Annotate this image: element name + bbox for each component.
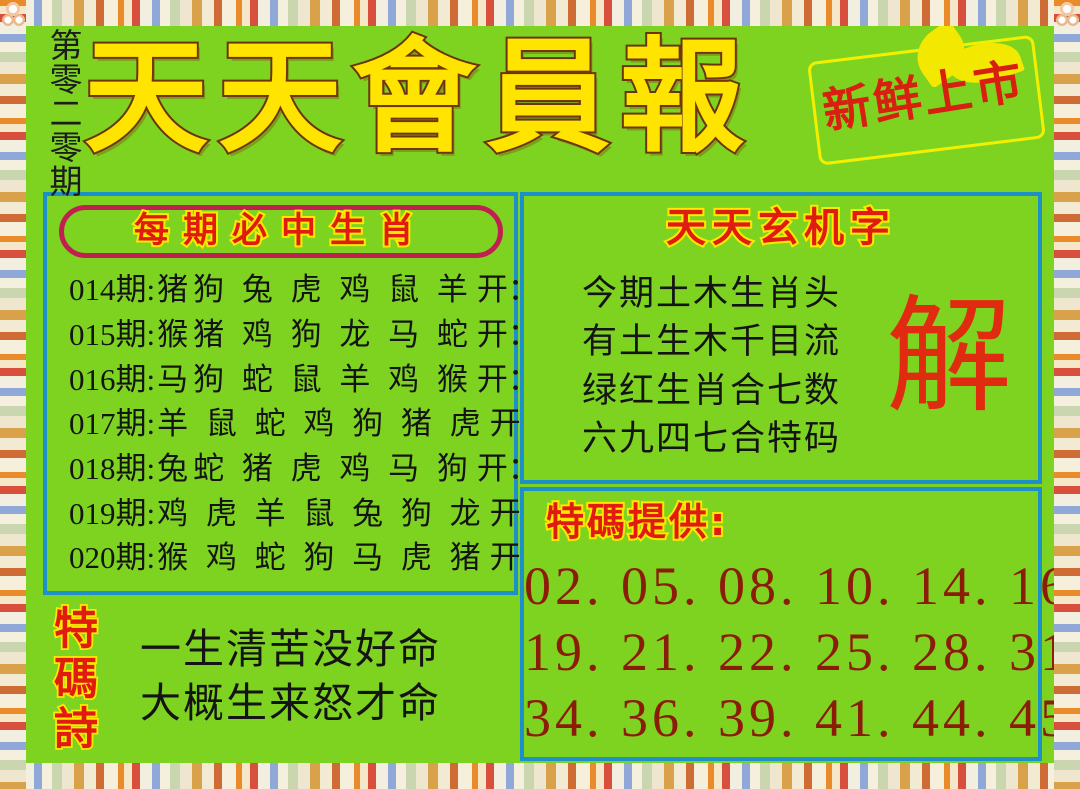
row-issue: 019期 [69,498,147,530]
masthead: 天天會員報 [84,18,804,178]
numbers-row: 19. 21. 22. 25. 28. 31 [524,625,1038,679]
row-animals: 鸡 虎 羊 鼠 兔 狗 龙 [157,498,486,530]
daily-riddle-panel: 天天玄机字 今期土木生肖头 有土生木千目流 绿红生肖合七数 六九四七合特码 解 [520,192,1042,484]
fresh-on-market-badge: 新鲜上市 [805,16,1051,175]
issue-number: 第零二零期 [30,28,78,198]
row-issue: 014期 [69,274,147,306]
zodiac-panel-header: 每期必中生肖 [59,205,503,258]
row-issue: 018期 [69,453,147,485]
row-separator: : [147,364,156,396]
page-title: 天天會員報 [84,36,754,160]
row-animals: 猴 鸡 蛇 狗 马 虎 猪 [157,542,486,574]
row-separator: : [147,408,156,440]
riddle-line: 绿红生肖合七数 [582,367,882,415]
row-separator: : [147,498,156,530]
table-row: 017期 : 羊 鼠 蛇 鸡 狗 猪 虎 开： [47,408,514,440]
table-row: 015期 : 猴猪 鸡 狗 龙 马 蛇 开： [47,319,514,351]
riddle-line: 有土生木千目流 [582,318,882,366]
special-numbers-panel: 特碼提供: 02. 05. 08. 10. 14. 16 19. 21. 22.… [520,487,1042,761]
table-row: 019期 : 鸡 虎 羊 鼠 兔 狗 龙 开： [47,498,514,530]
row-issue: 016期 [69,364,147,396]
numbers-row: 34. 36. 39. 41. 44. 45 [524,691,1038,745]
zodiac-header-label: 每期必中生肖 [134,214,428,249]
row-animals: 羊 鼠 蛇 鸡 狗 猪 虎 [157,408,486,440]
poem-line-list: 一生清苦没好命 大概生来怒才命 [140,622,500,730]
poem-line: 一生清苦没好命 [140,622,500,676]
zodiac-row-list: 014期 : 猪狗 兔 虎 鸡 鼠 羊 开： 015期 : 猴猪 鸡 狗 龙 马… [47,266,514,587]
table-row: 016期 : 马狗 蛇 鼠 羊 鸡 猴 开： [47,364,514,396]
riddle-solve-character: 解 [886,296,1012,422]
decorative-border-left [0,0,26,789]
row-separator: : [147,274,156,306]
table-row: 014期 : 猪狗 兔 虎 鸡 鼠 羊 开： [47,274,514,306]
row-animals: 猴猪 鸡 狗 龙 马 蛇 [157,319,473,351]
poster-root: 第零二零期 天天會員報 新鲜上市 每期必中生肖 014期 : 猪狗 兔 虎 鸡 … [0,0,1080,789]
decorative-border-bottom [0,763,1080,789]
riddle-line: 六九四七合特码 [582,415,882,463]
riddle-panel-title: 天天玄机字 [524,208,1038,248]
riddle-verse-list: 今期土木生肖头 有土生木千目流 绿红生肖合七数 六九四七合特码 [582,270,882,463]
row-issue: 015期 [69,319,147,351]
row-animals: 猪狗 兔 虎 鸡 鼠 羊 [157,274,473,306]
row-issue: 017期 [69,408,147,440]
table-row: 018期 : 兔蛇 猪 虎 鸡 马 狗 开： [47,453,514,485]
numbers-panel-title: 特碼提供: [546,503,728,541]
row-animals: 兔蛇 猪 虎 鸡 马 狗 [157,453,473,485]
riddle-line: 今期土木生肖头 [582,270,882,318]
row-animals: 马狗 蛇 鼠 羊 鸡 猴 [157,364,473,396]
table-row: 020期 : 猴 鸡 蛇 狗 马 虎 猪 开： [47,542,514,574]
numbers-row-list: 02. 05. 08. 10. 14. 16 19. 21. 22. 25. 2… [524,553,1038,751]
row-separator: : [147,542,156,574]
row-separator: : [147,319,156,351]
numbers-row: 02. 05. 08. 10. 14. 16 [524,559,1038,613]
zodiac-forecast-panel: 每期必中生肖 014期 : 猪狗 兔 虎 鸡 鼠 羊 开： 015期 : 猴猪 … [43,192,518,595]
poem-label: 特碼詩 [38,605,96,755]
row-separator: : [147,453,156,485]
poem-line: 大概生来怒才命 [140,676,500,730]
row-issue: 020期 [69,542,147,574]
